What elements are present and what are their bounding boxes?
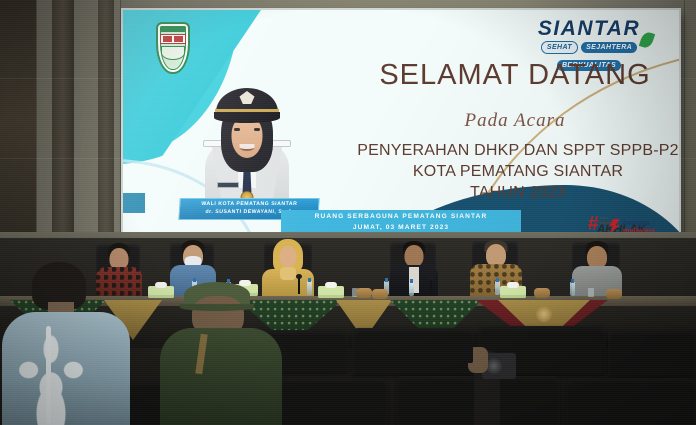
water-bottle-3 — [307, 281, 312, 295]
camera-lens-icon — [486, 358, 502, 374]
slide-subheading: Pada Acara — [375, 110, 655, 132]
city-emblem-icon: ★ — [156, 22, 190, 74]
tissue-box-4 — [500, 286, 526, 298]
slide-title-line-3: TAHUN 2023 — [298, 182, 679, 203]
slide-venue-banner: RUANG SERBAGUNA PEMATANG SIANTAR JUMAT, … — [281, 210, 521, 234]
wall-seam-v3 — [684, 0, 685, 270]
drinking-glass-2 — [588, 288, 594, 297]
venue-location: RUANG SERBAGUNA PEMATANG SIANTAR — [285, 211, 517, 222]
phone-icon — [460, 341, 473, 363]
water-bottle-5 — [409, 282, 414, 296]
audience-chair-4 — [608, 330, 696, 376]
siantar-wordmark: SIANTAR — [527, 18, 651, 39]
slide-title-line-1: PENYERAHAN DHKP DAN SPPT SPPB-P2 — [298, 140, 679, 161]
audience-member-batik — [2, 262, 130, 425]
slide-heading: SELAMAT DATANG — [355, 59, 675, 92]
snack-plate-4 — [606, 289, 622, 299]
snack-plate-1 — [356, 288, 372, 298]
projection-screen: ★ SIANTAR SEHAT SEJAHTERA BERKUALITAS — [123, 10, 679, 239]
photo-scene: ★ SIANTAR SEHAT SEJAHTERA BERKUALITAS — [0, 0, 696, 425]
wall-seam-v1 — [36, 0, 37, 270]
wall-seam-v2 — [120, 0, 121, 270]
slide-title-line-2: KOTA PEMATANG SIANTAR — [298, 161, 679, 182]
slide-blue-tab — [123, 193, 145, 213]
snack-plate-2 — [372, 289, 388, 299]
siantar-tag-sejahtera: SEJAHTERA — [581, 42, 637, 53]
tissue-box-3 — [318, 286, 344, 298]
mayor-portrait-photo — [201, 82, 293, 206]
siantar-tag-sehat: SEHAT — [541, 41, 578, 54]
microphone-2 — [430, 279, 432, 294]
wall-pillar-2 — [98, 0, 114, 270]
snack-plate-3 — [534, 288, 550, 298]
bangga-tiny-text: bangga — [595, 219, 612, 225]
audience-chair-2 — [352, 328, 474, 374]
slide-title-block: PENYERAHAN DHKP DAN SPPT SPPB-P2 KOTA PE… — [298, 140, 679, 203]
wall-dark-left-panel — [0, 0, 36, 270]
photographer-hand-with-camera — [458, 329, 528, 425]
panelist-3-hands — [280, 267, 296, 280]
water-bottle-7 — [570, 282, 575, 296]
microphone-1 — [298, 278, 300, 294]
audience-member-uniform-cap — [160, 282, 282, 425]
water-bottle-6 — [495, 281, 500, 295]
wall-pillar-1 — [52, 0, 74, 270]
nameplate-title: WALI KOTA PEMATANG SIANTAR — [184, 201, 315, 209]
audience-chair-7 — [566, 378, 696, 425]
runner-medallion — [536, 306, 552, 322]
